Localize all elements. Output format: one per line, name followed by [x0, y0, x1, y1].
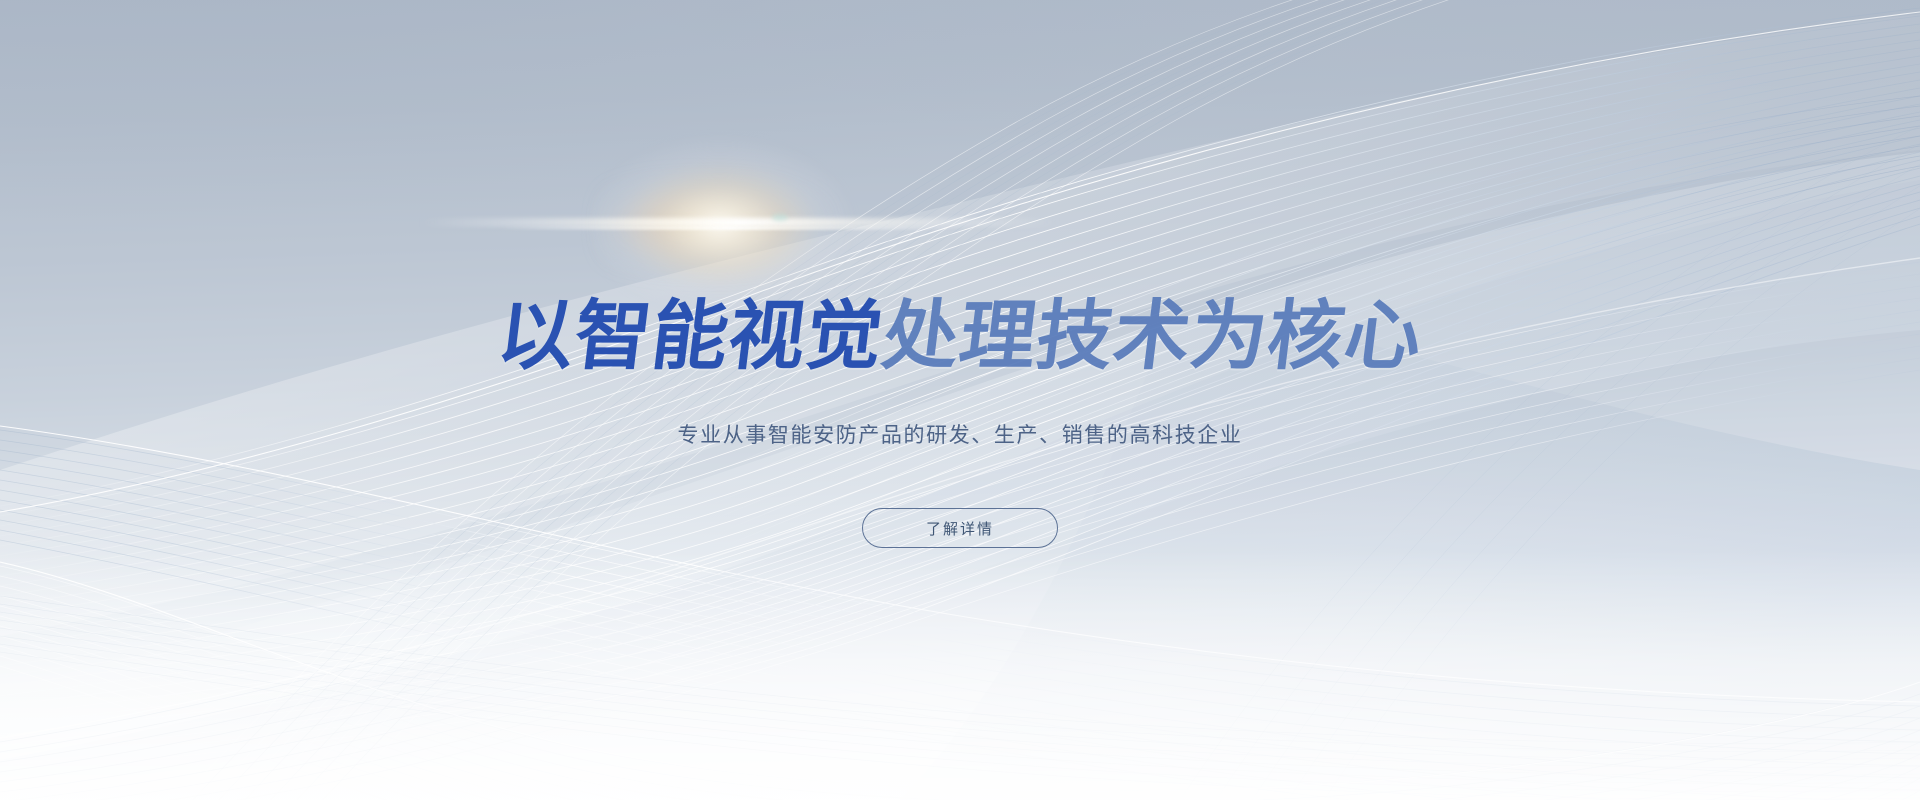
hero-headline: 以智能视觉处理技术为核心: [0, 299, 1920, 375]
top-vignette: [0, 0, 1920, 800]
hero-cta-container: 了解详情: [0, 508, 1920, 548]
lens-flare-tint: [600, 175, 830, 275]
learn-more-button[interactable]: 了解详情: [862, 508, 1058, 548]
lens-flare-streak-inner: [500, 226, 960, 230]
lens-flare-core-icon: [590, 140, 850, 310]
lens-flare-speck: [772, 214, 788, 221]
hero-content: 以智能视觉处理技术为核心 专业从事智能安防产品的研发、生产、销售的高科技企业 了…: [0, 0, 1920, 800]
bottom-fade: [0, 550, 1920, 800]
lens-flare-streak: [420, 218, 1060, 227]
hero-subheadline: 专业从事智能安防产品的研发、生产、销售的高科技企业: [0, 419, 1920, 449]
headline-segment-primary: 以智能视觉: [493, 294, 888, 379]
wave-background: [0, 0, 1920, 800]
headline-segment-secondary: 处理技术为核心: [878, 294, 1427, 379]
hero-banner: 以智能视觉处理技术为核心 专业从事智能安防产品的研发、生产、销售的高科技企业 了…: [0, 0, 1920, 800]
